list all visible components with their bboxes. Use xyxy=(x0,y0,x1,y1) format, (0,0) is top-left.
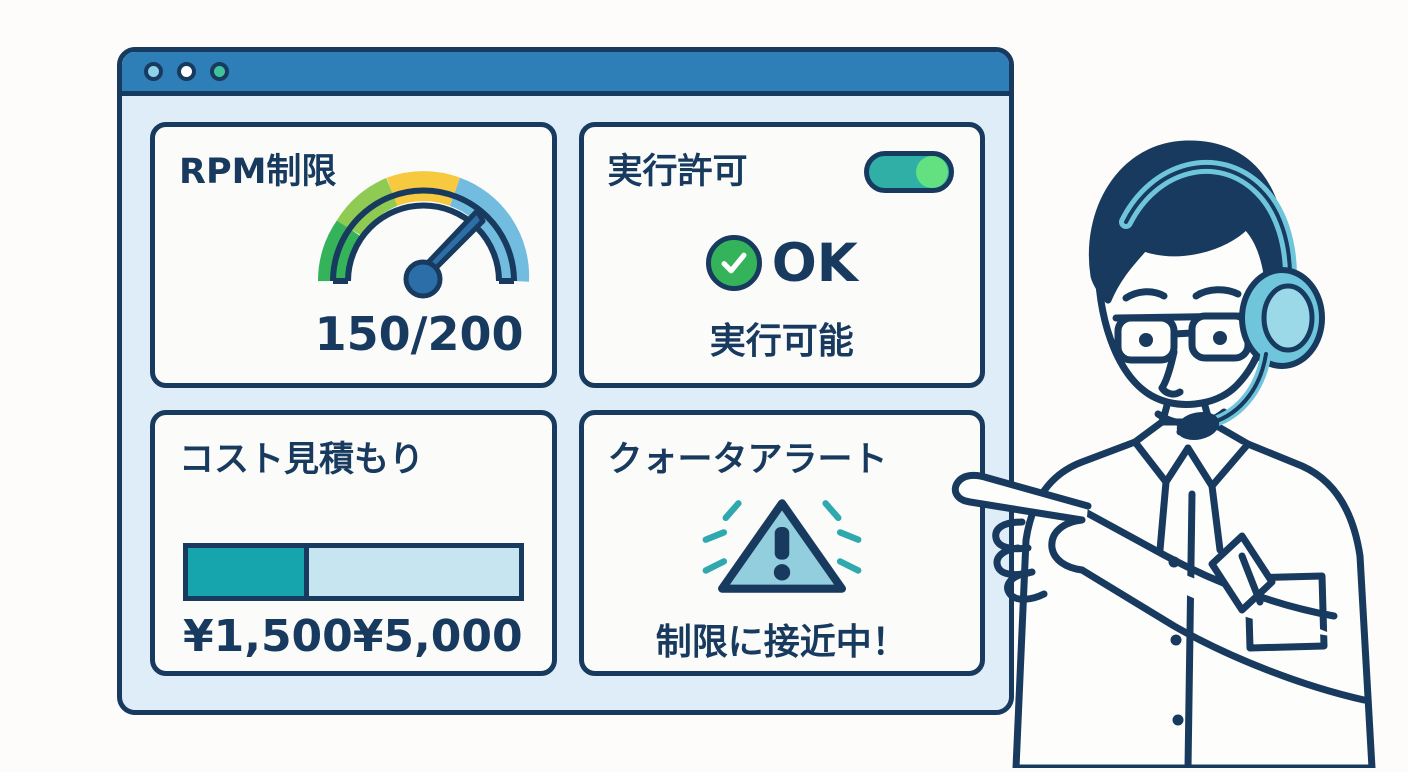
rpm-gauge xyxy=(311,149,536,299)
maximize-dot[interactable] xyxy=(177,62,196,81)
card-rpm-limit[interactable]: RPM制限 xyxy=(150,122,557,388)
quota-alert-message: 制限に接近中！ xyxy=(584,613,981,665)
cost-progress-fill xyxy=(188,548,309,596)
check-icon xyxy=(717,246,751,280)
cost-progress-bar[interactable] xyxy=(183,543,524,601)
cost-card-title: コスト見積もり xyxy=(179,431,424,482)
minimize-dot[interactable] xyxy=(144,62,163,81)
permission-status-label: OK xyxy=(772,237,858,290)
rpm-value-label: 150/200 xyxy=(315,307,524,361)
permission-sub-label: 実行可能 xyxy=(584,312,981,364)
close-dot[interactable] xyxy=(210,62,229,81)
permission-card-title: 実行許可 xyxy=(608,143,748,194)
cost-current-label: ¥1,500 xyxy=(183,611,353,662)
support-agent-illustration xyxy=(930,70,1408,768)
person-figure xyxy=(930,70,1408,768)
window-titlebar xyxy=(122,52,1009,96)
quota-card-title: クォータアラート xyxy=(608,431,888,482)
quota-alert-icon-wrap xyxy=(584,487,981,605)
check-circle-icon xyxy=(706,235,762,291)
cost-max-label: ¥5,000 xyxy=(353,611,529,662)
screenshot-root: RPM制限 xyxy=(0,0,1408,768)
card-cost-estimate[interactable]: コスト見積もり ¥1,500 ¥5,000 xyxy=(150,410,557,676)
gauge-icon xyxy=(311,149,536,299)
card-execution-permission[interactable]: 実行許可 OK 実行可能 xyxy=(579,122,986,388)
app-window: RPM制限 xyxy=(117,47,1014,715)
warning-triangle-icon xyxy=(682,487,882,605)
permission-status-row: OK xyxy=(584,235,981,291)
card-quota-alert[interactable]: クォータアラート xyxy=(579,410,986,676)
dashboard-grid: RPM制限 xyxy=(122,96,1009,710)
cost-value-row: ¥1,500 ¥5,000 xyxy=(183,611,524,662)
